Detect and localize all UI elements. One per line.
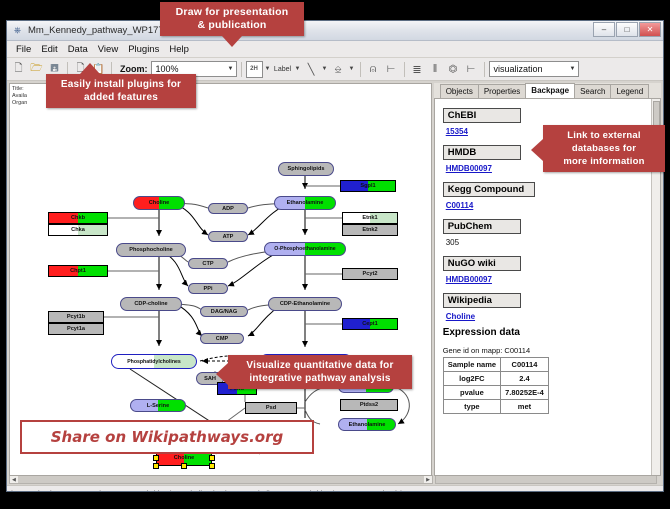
menu-help[interactable]: Help xyxy=(164,43,194,56)
canvas-hscrollbar[interactable]: ◀ ▶ xyxy=(9,475,433,484)
db-link-kegg[interactable]: C00114 xyxy=(446,201,652,210)
line-dropdown-icon[interactable]: ▼ xyxy=(321,66,329,72)
window-titlebar: ⎈ Mm_Kennedy_pathway_WP1771_45176.gpml –… xyxy=(7,21,663,41)
menu-data[interactable]: Data xyxy=(63,43,93,56)
gene-id-line: Gene id on mapp: C00114 xyxy=(443,346,652,355)
node-label: Chka xyxy=(71,227,85,233)
node-label: Phosphocholine xyxy=(129,247,173,253)
screenshot-root: ⎈ Mm_Kennedy_pathway_WP1771_45176.gpml –… xyxy=(0,0,670,509)
callout-arrow-left-icon xyxy=(531,139,543,161)
callout-link-line1: Link to external xyxy=(567,130,640,141)
menu-edit[interactable]: Edit xyxy=(36,43,62,56)
selection-handle[interactable] xyxy=(209,455,215,461)
align-icon[interactable]: ⍝ xyxy=(365,61,382,78)
menu-file[interactable]: File xyxy=(11,43,36,56)
chevron-down-icon: ▼ xyxy=(566,66,576,72)
tab-properties[interactable]: Properties xyxy=(478,84,526,98)
table-row: log2FC 2.4 xyxy=(443,372,548,386)
gene-node-pcyt2[interactable]: Pcyt2 xyxy=(342,268,398,280)
table-row: type met xyxy=(443,400,548,414)
new-file-icon[interactable]: 🗋 xyxy=(10,61,27,78)
metabolite-node-phosphocholine[interactable]: Phosphocholine xyxy=(116,243,186,257)
metabolite-node-ctp[interactable]: CTP xyxy=(188,258,228,269)
gene-node-cept1[interactable]: Cept1 xyxy=(342,318,398,330)
expr-value-sample: C00114 xyxy=(501,358,549,372)
gene-node-etnk2[interactable]: Etnk2 xyxy=(342,224,398,236)
node-label: Sphingolipids xyxy=(288,166,325,172)
node-label: PPi xyxy=(203,286,212,292)
node-label: DAG/NAG xyxy=(211,309,237,315)
node-label: Ethanolamine xyxy=(287,200,324,206)
toolbar-separator-5 xyxy=(404,62,405,77)
selection-handle[interactable] xyxy=(153,455,159,461)
order-icon[interactable]: ⊢ xyxy=(463,61,480,78)
expr-value-pvalue: 7.80252E-4 xyxy=(501,386,549,400)
expression-data-title: Expression data xyxy=(443,327,652,338)
scroll-right-icon[interactable]: ▶ xyxy=(424,477,432,483)
tab-objects[interactable]: Objects xyxy=(440,84,479,98)
node-label: ATP xyxy=(223,234,234,240)
db-value-pubchem: 305 xyxy=(446,238,652,247)
node-label: CDP-choline xyxy=(134,301,167,307)
node-label: Choline xyxy=(149,200,170,206)
panel-hscrollbar[interactable] xyxy=(435,475,657,484)
node-label: Ethanolamine xyxy=(349,422,386,428)
metabolite-node-adp[interactable]: ADP xyxy=(208,203,248,214)
expr-value-log2fc: 2.4 xyxy=(501,372,549,386)
selection-handle[interactable] xyxy=(209,463,215,469)
metabolite-node-cmp[interactable]: CMP xyxy=(200,333,244,344)
db-header-chebi: ChEBI xyxy=(443,108,521,123)
db-header-hmdb: HMDB xyxy=(443,145,521,160)
callout-arrow-up-icon xyxy=(80,63,100,74)
node-label: Phosphatidylcholines xyxy=(127,359,181,365)
menu-plugins[interactable]: Plugins xyxy=(123,43,164,56)
panel-hscroll-thumb[interactable] xyxy=(436,476,656,483)
canvas-hscroll-thumb[interactable] xyxy=(18,476,424,483)
db-header-wikipedia: Wikipedia xyxy=(443,293,521,308)
visualization-combobox[interactable]: visualization ▼ xyxy=(489,61,579,77)
node-label: Pcyt2 xyxy=(363,271,378,277)
scroll-left-icon[interactable]: ◀ xyxy=(10,477,18,483)
callout-draw-line2: & publication xyxy=(197,19,266,31)
group-icon[interactable]: ⏣ xyxy=(445,61,462,78)
node-label: ADP xyxy=(222,206,234,212)
expr-label-type: type xyxy=(443,400,500,414)
chevron-down-icon: ▼ xyxy=(224,66,234,72)
toolbar-separator-6 xyxy=(484,62,485,77)
node-label: SAH xyxy=(204,376,216,382)
shape-dropdown-icon[interactable]: ▼ xyxy=(348,66,356,72)
expr-label-pvalue: pvalue xyxy=(443,386,500,400)
callout-draw-line1: Draw for presentation xyxy=(176,6,289,18)
metabolite-node-o-phosphoethanolamine[interactable]: O-Phosphoethanolamine xyxy=(264,242,346,256)
metabolite-node-ethanolamine-top[interactable]: Ethanolamine xyxy=(274,196,336,210)
anchor-icon[interactable]: ⊢ xyxy=(383,61,400,78)
gene-node-pcyt1b[interactable]: Pcyt1b xyxy=(48,311,104,323)
expression-table: Sample name C00114 log2FC 2.4 pvalue 7.8… xyxy=(443,357,549,414)
node-label: O-Phosphoethanolamine xyxy=(274,246,335,252)
distribute-horizontal-icon[interactable]: ‖ xyxy=(427,61,444,78)
gene-node-sgpl1[interactable]: Sgpl1 xyxy=(340,180,396,192)
metabolite-node-ethanolamine-bottom[interactable]: Ethanolamine xyxy=(338,418,396,431)
label-dropdown-icon[interactable]: ▼ xyxy=(294,66,302,72)
visualization-value: visualization xyxy=(494,64,543,74)
node-label: Choline xyxy=(174,455,195,461)
zoom-label: Zoom: xyxy=(120,64,148,74)
selection-handle[interactable] xyxy=(153,463,159,469)
gene-node-pcyt1a[interactable]: Pcyt1a xyxy=(48,323,104,335)
node-label: Pcyt1a xyxy=(67,326,85,332)
share-wikipathways-banner: Share on Wikipathways.org xyxy=(20,420,314,454)
callout-visualize-data: Visualize quantitative data for integrat… xyxy=(228,355,412,389)
node-label: Etnk2 xyxy=(362,227,377,233)
distribute-vertical-icon[interactable]: ≣ xyxy=(409,61,426,78)
share-banner-text: Share on Wikipathways.org xyxy=(51,428,283,446)
metabolite-node-cdp-choline[interactable]: CDP-choline xyxy=(120,297,182,311)
db-link-wikipedia[interactable]: Choline xyxy=(446,312,652,321)
window-controls: – □ ✕ xyxy=(593,22,661,37)
zoom-value: 100% xyxy=(156,64,179,74)
callout-viz-line2: integrative pathway analysis xyxy=(249,373,390,384)
metabolite-node-phosphatidylcholines[interactable]: Phosphatidylcholines xyxy=(111,354,197,369)
close-button[interactable]: ✕ xyxy=(639,22,661,37)
node-label: Ptdss2 xyxy=(360,402,378,408)
callout-arrow-left-icon xyxy=(216,363,228,385)
db-header-kegg: Kegg Compound xyxy=(443,182,535,197)
gene-node-chka[interactable]: Chka xyxy=(48,224,108,236)
datanode-dropdown-icon[interactable]: ▼ xyxy=(264,66,272,72)
toolbar-separator-4 xyxy=(360,62,361,77)
line-tool-icon[interactable]: ╲ xyxy=(303,61,320,78)
status-text: | Gene database: ...m_Derby_20120602.bri… xyxy=(11,489,457,492)
app-icon: ⎈ xyxy=(11,24,24,37)
metabolite-node-ppi[interactable]: PPi xyxy=(188,283,228,294)
node-label: Etnk1 xyxy=(362,215,377,221)
node-label: CDP-Ethanolamine xyxy=(280,301,330,307)
callout-link-line3: more information xyxy=(563,156,644,167)
metabolite-node-choline-top[interactable]: Choline xyxy=(133,196,185,210)
callout-external-databases: Link to external databases for more info… xyxy=(543,125,665,172)
tab-backpage[interactable]: Backpage xyxy=(525,83,575,98)
gene-node-psd[interactable]: Psd xyxy=(245,402,297,414)
callout-link-line2: databases for xyxy=(572,143,636,154)
pathway-canvas[interactable]: Title: Availa Organ xyxy=(9,83,432,476)
gene-node-chpt1[interactable]: Chpt1 xyxy=(48,265,108,277)
callout-plugins-line1: Easily install plugins for xyxy=(61,79,181,90)
node-label: CTP xyxy=(202,261,213,267)
menu-view[interactable]: View xyxy=(93,43,123,56)
db-header-nugowiki: NuGO wiki xyxy=(443,256,521,271)
maximize-button[interactable]: □ xyxy=(616,22,638,37)
gene-node-etnk1[interactable]: Etnk1 xyxy=(342,212,398,224)
callout-install-plugins: Easily install plugins for added feature… xyxy=(46,74,196,108)
table-row: Sample name C00114 xyxy=(443,358,548,372)
metabolite-node-l-serine-left[interactable]: L-Serine xyxy=(130,399,186,412)
callout-arrow-down-icon xyxy=(222,36,242,47)
node-label: Chkb xyxy=(71,215,85,221)
metabolite-node-cdp-ethanolamine[interactable]: CDP-Ethanolamine xyxy=(268,297,342,311)
db-link-nugowiki[interactable]: HMDB00097 xyxy=(446,275,652,284)
node-label: L-Serine xyxy=(147,403,169,409)
shape-tool-icon[interactable]: ⎒ xyxy=(330,61,347,78)
open-file-icon[interactable]: 🗁 xyxy=(28,61,45,78)
node-label: Pcyt1b xyxy=(67,314,85,320)
expr-label-log2fc: log2FC xyxy=(443,372,500,386)
db-header-pubchem: PubChem xyxy=(443,219,521,234)
toolbar-separator-3 xyxy=(241,62,242,77)
status-bar: | Gene database: ...m_Derby_20120602.bri… xyxy=(7,485,663,492)
gene-node-chkb[interactable]: Chkb xyxy=(48,212,108,224)
callout-draw-for-publication: Draw for presentation & publication xyxy=(160,2,304,36)
menu-bar: File Edit Data View Plugins Help xyxy=(7,41,663,58)
panel-tabstrip: Objects Properties Backpage Search Legen… xyxy=(434,83,661,99)
metabolite-node-sphingolipids[interactable]: Sphingolipids xyxy=(278,162,334,176)
metabolite-node-dag-nag[interactable]: DAG/NAG xyxy=(200,306,248,317)
expr-value-type: met xyxy=(501,400,549,414)
node-label: CMP xyxy=(216,336,228,342)
tab-legend[interactable]: Legend xyxy=(610,84,649,98)
selection-handle[interactable] xyxy=(181,463,187,469)
tab-search[interactable]: Search xyxy=(574,84,611,98)
node-label: Sgpl1 xyxy=(360,183,375,189)
minimize-button[interactable]: – xyxy=(593,22,615,37)
metabolite-node-atp[interactable]: ATP xyxy=(208,231,248,242)
node-label: Psd xyxy=(266,405,276,411)
datanode-tool-icon[interactable]: 2H xyxy=(246,61,263,78)
label-tool-icon[interactable]: Label xyxy=(273,61,293,78)
node-label: Chpt1 xyxy=(70,268,86,274)
node-label: Cept1 xyxy=(362,321,378,327)
table-row: pvalue 7.80252E-4 xyxy=(443,386,548,400)
callout-plugins-line2: added features xyxy=(84,92,158,103)
gene-node-ptdss2[interactable]: Ptdss2 xyxy=(340,399,398,411)
callout-viz-line1: Visualize quantitative data for xyxy=(246,360,393,371)
expr-label-sample: Sample name xyxy=(443,358,500,372)
